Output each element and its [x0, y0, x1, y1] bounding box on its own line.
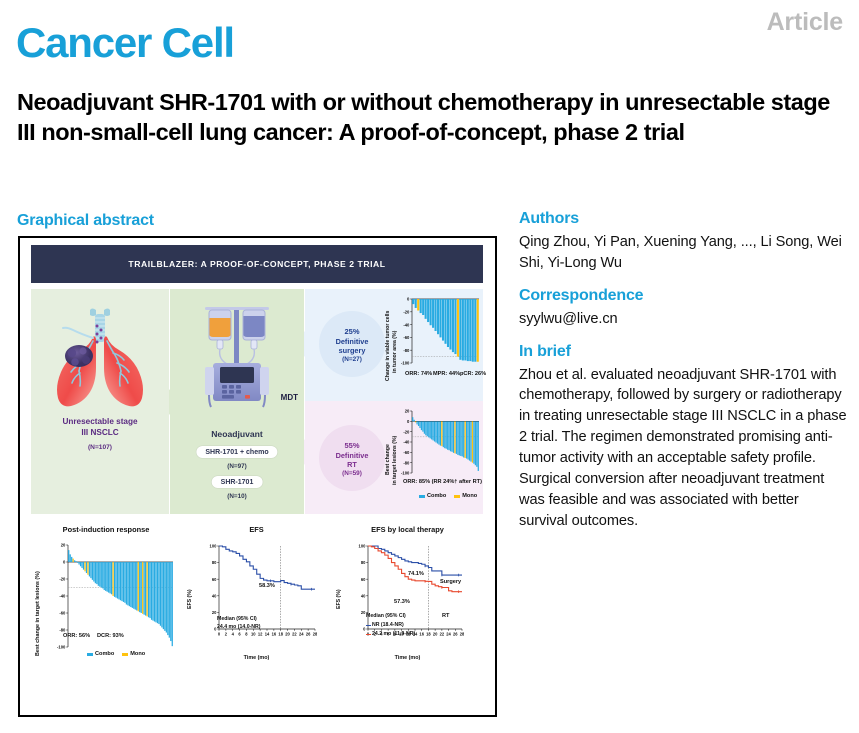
legend-mono: Mono [122, 651, 145, 657]
rt-percent-value: 55 [344, 441, 352, 450]
surgery-waterfall-ylabel: Change in viable tumor cells [385, 311, 391, 381]
svg-text:20: 20 [212, 610, 217, 615]
efs-xlabel: Time (mo) [183, 655, 330, 661]
surgery-orr-stat: ORR: 74% [405, 371, 432, 377]
svg-text:0: 0 [218, 631, 221, 636]
svg-text:20: 20 [285, 631, 290, 636]
svg-text:-100: -100 [401, 361, 410, 366]
journal-title: Cancer Cell [16, 22, 234, 64]
svg-text:18: 18 [426, 631, 431, 636]
svg-text:-100: -100 [401, 471, 410, 476]
svg-text:-80: -80 [59, 628, 66, 633]
legend-combo: Combo [87, 651, 114, 657]
svg-text:20: 20 [405, 409, 410, 414]
rt-waterfall-legend: Combo Mono [419, 493, 482, 499]
authors-heading: Authors [519, 210, 849, 228]
svg-text:12: 12 [258, 631, 263, 636]
legend-combo: Combo [419, 493, 446, 499]
legend-mono: Mono [454, 493, 477, 499]
paper-title: Neoadjuvant SHR-1701 with or without che… [17, 88, 845, 147]
treatment-arm-mono: SHR-1701 [212, 476, 263, 488]
svg-text:22: 22 [440, 631, 445, 636]
lungs-illustration [46, 305, 154, 410]
svg-text:0: 0 [407, 297, 410, 302]
outcome-definitive-surgery: 25% Definitive surgery (N=27) [319, 311, 385, 377]
svg-text:4: 4 [232, 631, 235, 636]
svg-text:6: 6 [238, 631, 241, 636]
treatment-panel: MDT Neoadjuvant SHR-1701 + chemo (N=97) … [170, 289, 304, 514]
chart-efs: EFS EFS (%) 0204060801000246810121416182… [183, 521, 330, 707]
rt-label-2: RT [347, 461, 357, 470]
surgery-n: (N=27) [342, 356, 362, 364]
svg-text:-100: -100 [57, 645, 66, 650]
efs-lt-xlabel: Time (mo) [332, 655, 483, 661]
svg-text:80: 80 [212, 560, 217, 565]
efs-lt-legend-swatch-surgery [366, 625, 371, 626]
surgery-mpr-stat: MPR: 44% [433, 371, 460, 377]
population-caption-line1: Unresectable stage [62, 417, 137, 426]
efs-lt-median-label: Median (95% CI) [366, 613, 406, 619]
infusion-illustration [191, 303, 283, 411]
svg-text:24: 24 [299, 631, 304, 636]
efs-lt-surgery-median: NR (18.4-NR) [372, 622, 404, 628]
svg-text:100: 100 [210, 544, 218, 549]
svg-text:26: 26 [306, 631, 311, 636]
svg-text:10: 10 [251, 631, 256, 636]
svg-text:26: 26 [453, 631, 458, 636]
svg-text:22: 22 [292, 631, 297, 636]
treatment-arm-combo-n: (N=97) [170, 463, 304, 470]
svg-text:80: 80 [361, 560, 366, 565]
svg-text:60: 60 [212, 577, 217, 582]
svg-text:20: 20 [61, 543, 66, 548]
outcomes-panel: 25% Definitive surgery (N=27) 55% Defini… [305, 289, 483, 514]
surgery-percent: 25% [344, 325, 359, 339]
efs-ylabel: EFS (%) [187, 589, 193, 609]
outcome-definitive-rt: 55% Definitive RT (N=59) [319, 425, 385, 491]
surgery-percent-symbol: % [353, 327, 360, 336]
svg-text:40: 40 [361, 593, 366, 598]
treatment-arm-combo: SHR-1701 + chemo [196, 446, 277, 458]
efs-lt-legend-swatch-rt [366, 634, 371, 635]
authors-list: Qing Zhou, Yi Pan, Xuening Yang, ..., Li… [519, 232, 849, 274]
surgery-percent-value: 25 [344, 327, 352, 336]
svg-text:-20: -20 [59, 577, 66, 582]
in-brief-text: Zhou et al. evaluated neoadjuvant SHR-17… [519, 365, 849, 532]
efs-lt-surgery-label: Surgery [440, 579, 461, 585]
article-type-tag: Article [767, 8, 843, 37]
svg-text:28: 28 [313, 631, 317, 636]
efs-lt-ylabel: EFS (%) [336, 589, 342, 609]
svg-text:-80: -80 [403, 348, 410, 353]
graphical-abstract-heading: Graphical abstract [17, 212, 154, 230]
chart-surgery-waterfall: Change in viable tumor cells in tumor ar… [381, 295, 481, 395]
svg-text:-80: -80 [403, 460, 410, 465]
efs-lt-title: EFS by local therapy [332, 525, 483, 534]
chart-post-induction-response: Post-induction response Best change in t… [31, 521, 181, 707]
svg-text:24: 24 [446, 631, 451, 636]
graphical-abstract-figure: TRAILBLAZER: A PROOF-OF-CONCEPT, PHASE 2… [18, 236, 497, 717]
efs-median-value: 24.4 mo (14.0-NR) [217, 624, 261, 630]
efs-lt-rt-label: RT [442, 613, 449, 619]
correspondence-heading: Correspondence [519, 287, 849, 305]
svg-text:100: 100 [359, 544, 367, 549]
post-induction-dcr: DCR: 93% [97, 633, 124, 639]
svg-text:-40: -40 [403, 440, 410, 445]
bottom-charts-row: Post-induction response Best change in t… [31, 521, 483, 707]
rt-orr-stat: ORR: 85% (RR 24%† after RT) [403, 479, 482, 485]
surgery-waterfall-ylabel2: in tumor area (%) [392, 331, 398, 373]
correspondence-block: Correspondence syylwu@live.cn [519, 287, 849, 330]
efs-median-label: Median (95% CI) [217, 616, 257, 622]
svg-text:16: 16 [272, 631, 277, 636]
population-n: (N=107) [31, 444, 169, 451]
chart-efs-by-local-therapy: EFS by local therapy EFS (%) 02040608010… [332, 521, 483, 707]
in-brief-heading: In brief [519, 343, 849, 361]
trial-flow-band: Unresectable stage III NSCLC (N=107) [31, 289, 483, 514]
chart-rt-waterfall: Best change in target lesions (%) 200-20… [381, 407, 481, 509]
rt-n: (N=59) [342, 470, 362, 478]
post-induction-title: Post-induction response [31, 525, 181, 534]
population-caption: Unresectable stage III NSCLC [31, 417, 169, 438]
in-brief-block: In brief Zhou et al. evaluated neoadjuva… [519, 343, 849, 532]
authors-block: Authors Qing Zhou, Yi Pan, Xuening Yang,… [519, 210, 849, 274]
svg-text:-60: -60 [59, 611, 66, 616]
flow-arrow-3-icon [304, 439, 315, 465]
efs-lt-rt-median: 24.2 mo (11.9-NR) [372, 631, 415, 637]
svg-text:-20: -20 [403, 429, 410, 434]
svg-text:16: 16 [419, 631, 424, 636]
rt-waterfall-ylabel2: in target lesions (%) [392, 436, 398, 485]
surgery-pcr-stat: pCR: 26% [460, 371, 486, 377]
svg-text:8: 8 [245, 631, 248, 636]
rt-percent-symbol: % [353, 441, 360, 450]
post-induction-ylabel: Best change in target lesions (%) [35, 571, 41, 656]
population-panel: Unresectable stage III NSCLC (N=107) [31, 289, 169, 514]
mdt-label: MDT [281, 393, 298, 402]
svg-text:20: 20 [433, 631, 438, 636]
svg-text:40: 40 [212, 593, 217, 598]
post-induction-orr: ORR: 56% [63, 633, 90, 639]
svg-text:-40: -40 [403, 322, 410, 327]
svg-text:-60: -60 [403, 335, 410, 340]
svg-text:14: 14 [265, 631, 270, 636]
svg-text:-60: -60 [403, 450, 410, 455]
efs-lt-surgery-rate: 74.1% [408, 571, 424, 577]
svg-text:0: 0 [407, 419, 410, 424]
population-caption-line2: III NSCLC [81, 428, 118, 437]
svg-text:-40: -40 [59, 594, 66, 599]
neoadjuvant-heading: Neoadjuvant [170, 429, 304, 439]
post-induction-legend: Combo Mono [87, 651, 150, 657]
rt-percent: 55% [344, 439, 359, 453]
trial-banner: TRAILBLAZER: A PROOF-OF-CONCEPT, PHASE 2… [31, 245, 483, 283]
flow-arrow-2-icon [304, 331, 315, 357]
efs-lt-rt-rate: 57.3% [394, 599, 410, 605]
efs-title: EFS [183, 525, 330, 534]
svg-text:28: 28 [460, 631, 464, 636]
rt-waterfall-ylabel: Best change [385, 444, 391, 475]
svg-text:2: 2 [225, 631, 228, 636]
svg-text:18: 18 [278, 631, 283, 636]
svg-text:-20: -20 [403, 310, 410, 315]
efs-18mo-rate: 58.3% [259, 583, 275, 589]
svg-text:0: 0 [363, 627, 366, 632]
flow-arrow-1-icon [169, 389, 180, 415]
surgery-label-2: surgery [339, 347, 366, 356]
correspondence-email[interactable]: syylwu@live.cn [519, 309, 849, 330]
treatment-arm-mono-n: (N=10) [170, 493, 304, 500]
svg-text:60: 60 [361, 577, 366, 582]
svg-text:0: 0 [63, 560, 66, 565]
article-metadata-column: Authors Qing Zhou, Yi Pan, Xuening Yang,… [519, 210, 849, 544]
